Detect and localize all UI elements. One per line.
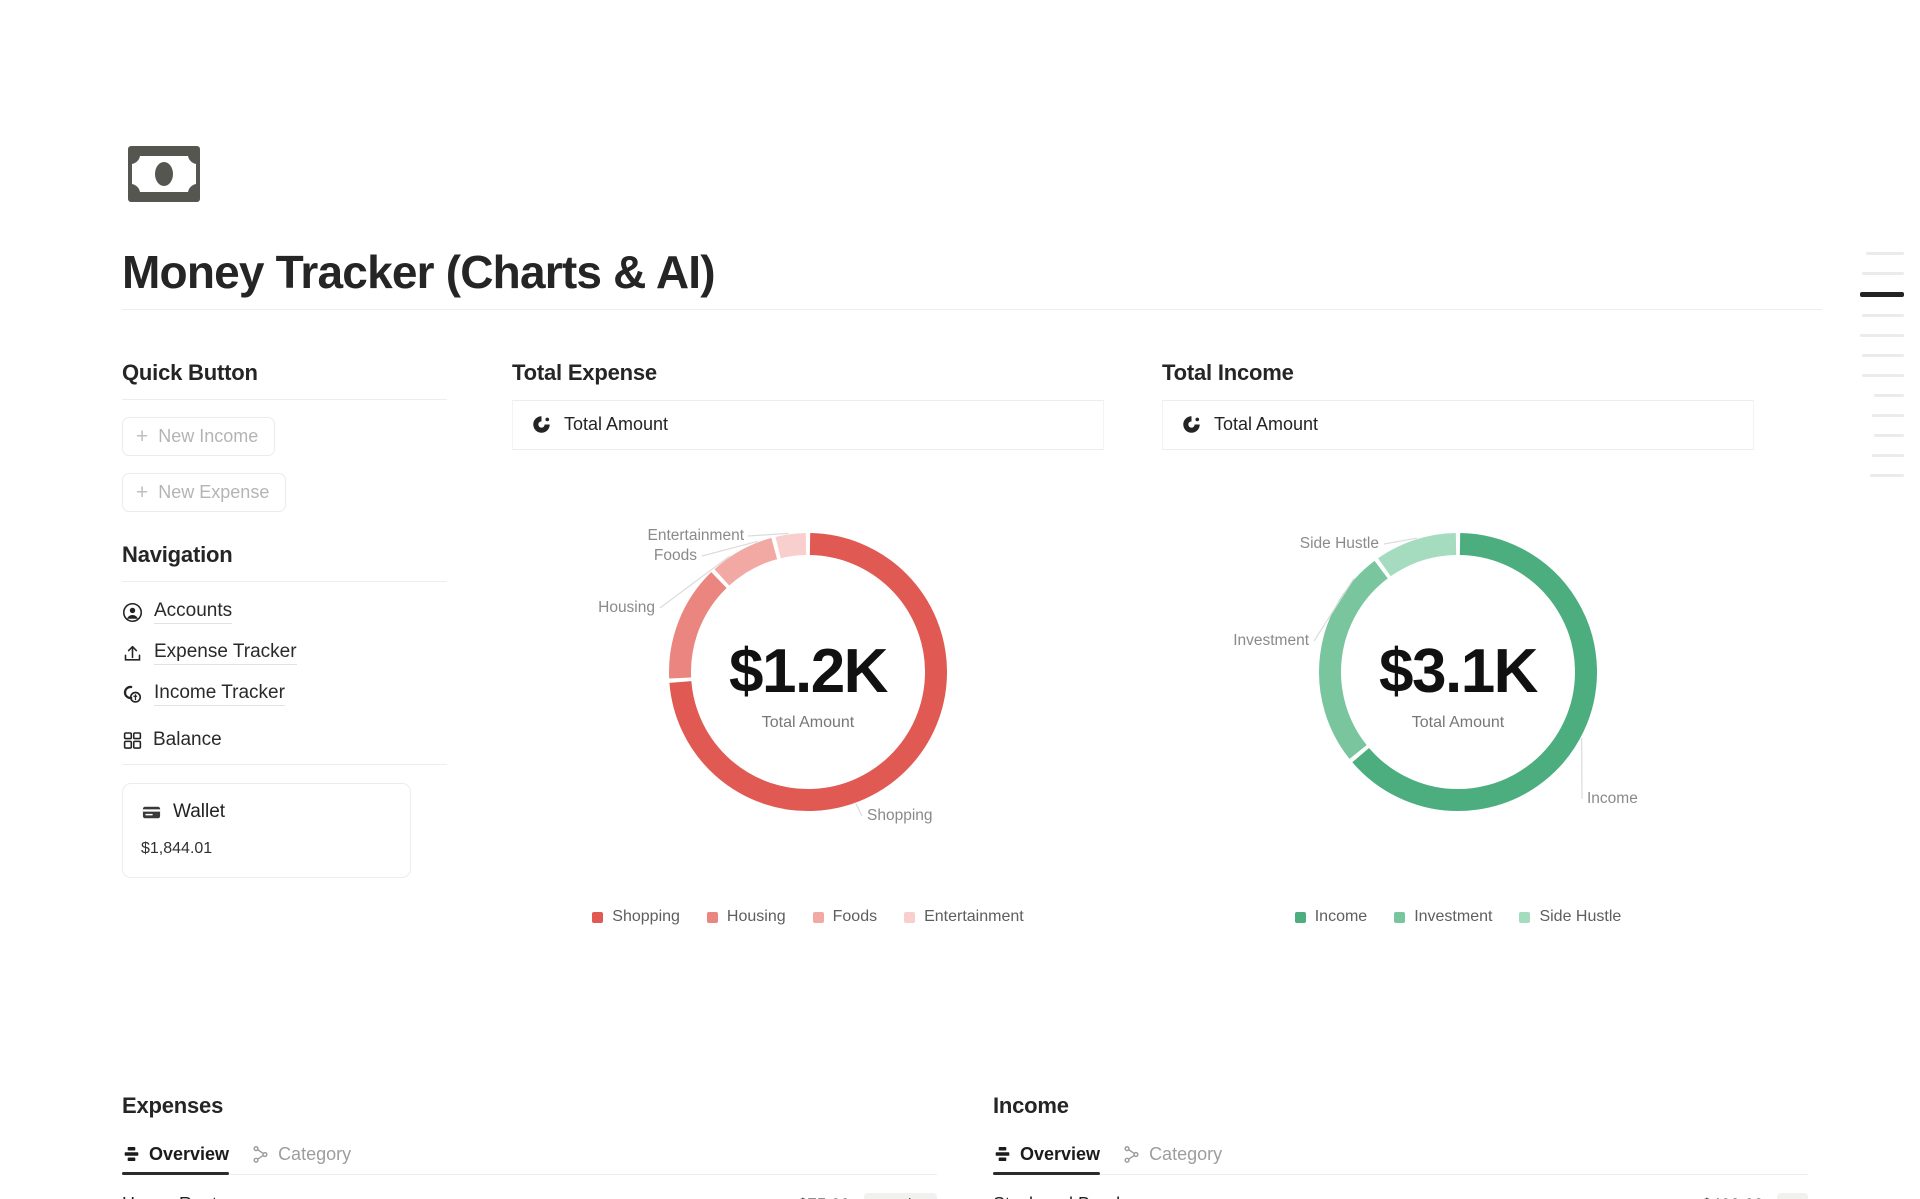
legend-swatch: [904, 912, 915, 923]
expense-center-value: $1.2K: [512, 636, 1104, 707]
outline-dash[interactable]: [1862, 354, 1904, 357]
legend-label: Entertainment: [924, 908, 1024, 926]
total-expense-panel: Total Expense Total Amount Entertainment…: [512, 360, 1104, 926]
legend-item[interactable]: Housing: [707, 908, 786, 926]
income-center-caption: Total Amount: [1162, 714, 1754, 732]
tab-expenses-category[interactable]: Category: [251, 1144, 351, 1174]
row-amount: $400.00: [1702, 1195, 1763, 1199]
new-expense-label: New Expense: [158, 482, 269, 503]
row-name: House Rent: [122, 1194, 217, 1199]
outline-dash[interactable]: [1874, 434, 1904, 437]
legend-label: Shopping: [612, 908, 680, 926]
donut-chart-icon: [531, 414, 552, 435]
tab-income-overview[interactable]: Overview: [993, 1144, 1100, 1174]
legend-label: Side Hustle: [1539, 908, 1621, 926]
plus-icon: +: [136, 482, 148, 503]
table-row[interactable]: Stock and Bond $400.00 In: [993, 1175, 1808, 1199]
sitemap-icon: [251, 1145, 270, 1164]
callout-label: Entertainment: [648, 527, 745, 544]
legend-label: Investment: [1414, 908, 1492, 926]
wallet-card-header: Wallet: [141, 801, 392, 823]
tab-expenses-overview[interactable]: Overview: [122, 1144, 229, 1174]
total-expense-donut: EntertainmentFoodsHousingShopping $1.2K …: [512, 486, 1104, 886]
legend-item[interactable]: Entertainment: [904, 908, 1024, 926]
user-circle-icon: [122, 602, 143, 623]
callout-label: Shopping: [867, 807, 933, 824]
balance-heading: Balance: [122, 729, 447, 764]
expenses-tabs: Overview Category: [122, 1144, 937, 1174]
outline-dash[interactable]: [1862, 272, 1904, 275]
donut-segment: [1384, 544, 1456, 567]
balance-label: Balance: [153, 729, 222, 751]
tab-label: Overview: [1020, 1144, 1100, 1165]
wallet-amount: $1,844.01: [141, 840, 392, 858]
legend-swatch: [1394, 912, 1405, 923]
callout-label: Housing: [598, 599, 655, 616]
grid-squares-icon: [122, 730, 143, 751]
donut-segment: [722, 549, 774, 578]
plus-icon: +: [136, 426, 148, 447]
sidebar-item-income-tracker[interactable]: Income Tracker: [122, 682, 447, 706]
total-income-donut: Side HustleInvestmentIncome $3.1K Total …: [1162, 486, 1754, 886]
total-income-title: Total Income: [1162, 360, 1754, 400]
upload-box-icon: [122, 643, 143, 664]
legend-item[interactable]: Shopping: [592, 908, 680, 926]
navigation-heading: Navigation: [122, 542, 447, 581]
donut-chart-icon: [1181, 414, 1202, 435]
new-income-button[interactable]: + New Income: [122, 417, 275, 456]
legend-item[interactable]: Income: [1295, 908, 1367, 926]
page-title: Money Tracker (Charts & AI): [122, 245, 715, 299]
sidebar-item-label: Income Tracker: [154, 682, 285, 706]
callout-label: Income: [1587, 790, 1638, 807]
table-row[interactable]: House Rent $75.00 Housing: [122, 1175, 937, 1199]
row-name: Stock and Bond: [993, 1194, 1120, 1199]
sidebar: Quick Button + New Income + New Expense …: [122, 360, 447, 878]
title-divider: [122, 309, 1822, 310]
banknote-icon: [124, 143, 204, 205]
navigation-divider: [122, 581, 447, 582]
outline-dash[interactable]: [1870, 474, 1904, 477]
income-title: Income: [993, 1093, 1808, 1119]
legend-swatch: [707, 912, 718, 923]
outline-dash[interactable]: [1872, 454, 1904, 457]
tab-label: Overview: [149, 1144, 229, 1165]
sidebar-item-label: Accounts: [154, 600, 232, 624]
wallet-label: Wallet: [173, 801, 225, 823]
table-rows-icon: [122, 1145, 141, 1164]
new-expense-button[interactable]: + New Expense: [122, 473, 286, 512]
income-legend: IncomeInvestmentSide Hustle: [1162, 908, 1754, 926]
row-amount: $75.00: [798, 1195, 850, 1199]
sidebar-item-label: Expense Tracker: [154, 641, 297, 665]
total-expense-subrow[interactable]: Total Amount: [512, 400, 1104, 450]
callout-line: [856, 804, 862, 816]
total-income-subrow-label: Total Amount: [1214, 414, 1318, 435]
sitemap-icon: [1122, 1145, 1141, 1164]
sidebar-item-accounts[interactable]: Accounts: [122, 600, 447, 624]
balance-divider: [122, 764, 447, 765]
outline-dash[interactable]: [1866, 252, 1904, 255]
new-income-label: New Income: [158, 426, 258, 447]
legend-swatch: [813, 912, 824, 923]
tab-income-category[interactable]: Category: [1122, 1144, 1222, 1174]
credit-card-icon: [141, 802, 162, 823]
outline-dash[interactable]: [1862, 314, 1904, 317]
status-badge: Housing: [864, 1193, 937, 1199]
donut-segment: [778, 544, 806, 548]
total-income-panel: Total Income Total Amount Side HustleInv…: [1162, 360, 1754, 926]
row-meta: $400.00 In: [1702, 1193, 1808, 1199]
status-badge: In: [1777, 1193, 1808, 1199]
wallet-card[interactable]: Wallet $1,844.01: [122, 783, 411, 878]
expenses-section: Expenses Overview Category: [122, 1093, 937, 1199]
income-center-value: $3.1K: [1162, 636, 1754, 707]
legend-label: Housing: [727, 908, 786, 926]
legend-item[interactable]: Investment: [1394, 908, 1492, 926]
callout-label: Foods: [654, 547, 697, 564]
outline-dash[interactable]: [1862, 374, 1904, 377]
outline-dash[interactable]: [1872, 414, 1904, 417]
outline-dash[interactable]: [1860, 334, 1904, 337]
outline-dash[interactable]: [1860, 292, 1904, 297]
table-rows-icon: [993, 1145, 1012, 1164]
outline-dash[interactable]: [1874, 394, 1904, 397]
income-tabs: Overview Category: [993, 1144, 1808, 1174]
total-expense-subrow-label: Total Amount: [564, 414, 668, 435]
legend-label: Income: [1315, 908, 1367, 926]
callout-label: Side Hustle: [1300, 535, 1379, 552]
legend-item[interactable]: Side Hustle: [1519, 908, 1621, 926]
legend-swatch: [1295, 912, 1306, 923]
total-expense-title: Total Expense: [512, 360, 1104, 400]
expense-center-caption: Total Amount: [512, 714, 1104, 732]
app-root: Money Tracker (Charts & AI) Quick Button…: [0, 0, 1920, 1199]
legend-swatch: [1519, 912, 1530, 923]
legend-label: Foods: [833, 908, 877, 926]
total-income-subrow[interactable]: Total Amount: [1162, 400, 1754, 450]
tab-label: Category: [1149, 1144, 1222, 1165]
quick-button-heading: Quick Button: [122, 360, 447, 399]
coins-icon: [122, 684, 143, 705]
expense-legend: ShoppingHousingFoodsEntertainment: [512, 908, 1104, 926]
legend-item[interactable]: Foods: [813, 908, 877, 926]
document-outline-minimap[interactable]: [1842, 252, 1904, 494]
legend-swatch: [592, 912, 603, 923]
income-section: Income Overview Category: [993, 1093, 1808, 1199]
sidebar-item-expense-tracker[interactable]: Expense Tracker: [122, 641, 447, 665]
row-meta: $75.00 Housing: [798, 1193, 937, 1199]
expenses-title: Expenses: [122, 1093, 937, 1119]
navigation-list: Accounts Expense Tracker Income Tracker: [122, 600, 447, 706]
tab-label: Category: [278, 1144, 351, 1165]
